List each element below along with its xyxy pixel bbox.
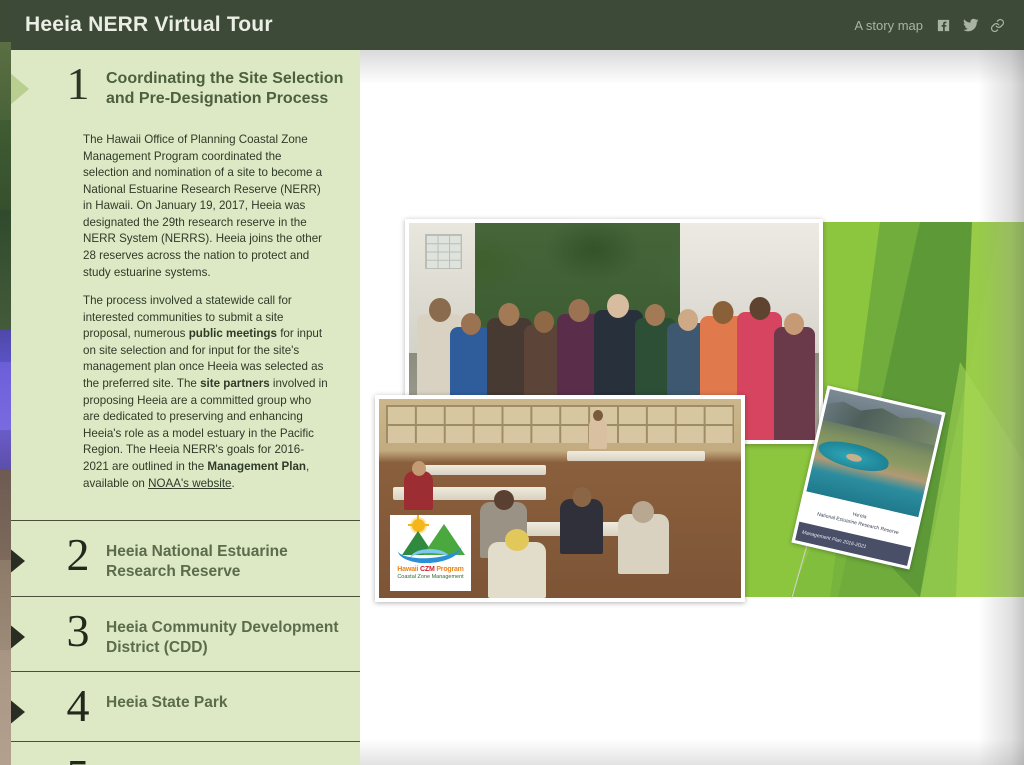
czm-logo-line1: Hawaii CZM Program bbox=[397, 566, 463, 573]
attendee-figure bbox=[488, 542, 546, 598]
p2-bold-3: Management Plan bbox=[207, 460, 306, 473]
section-header: 3 Heeia Community Development District (… bbox=[63, 611, 346, 658]
section-number: 4 bbox=[63, 686, 93, 726]
section-body-copy: The Hawaii Office of Planning Coastal Zo… bbox=[63, 110, 346, 506]
section-arrow-icon bbox=[11, 698, 25, 726]
head bbox=[632, 501, 654, 523]
body-paragraph-2: The process involved a statewide call fo… bbox=[83, 293, 328, 492]
section-number: 2 bbox=[63, 535, 93, 575]
twitter-icon[interactable] bbox=[962, 17, 979, 34]
attendee-figure bbox=[618, 514, 669, 574]
sidebar-section-2[interactable]: 2 Heeia National Estuarine Research Rese… bbox=[11, 520, 360, 596]
app-header: Heeia NERR Virtual Tour A story map bbox=[11, 0, 1024, 50]
czm-accent: CZM bbox=[420, 566, 435, 573]
head bbox=[461, 313, 481, 335]
hawaii-czm-program-logo: Hawaii CZM Program Coastal Zone Manageme… bbox=[390, 515, 471, 591]
section-title: Heeia State Park bbox=[106, 686, 228, 713]
czm-logo-artwork bbox=[396, 519, 466, 565]
p2-part-5: . bbox=[232, 477, 235, 490]
slide-stage: Hawaii CZM Program Coastal Zone Manageme… bbox=[360, 50, 1024, 765]
section-number: 5 bbox=[63, 756, 93, 765]
head bbox=[412, 461, 426, 476]
section-sidebar: 1 Coordinating the Site Selection and Pr… bbox=[11, 50, 360, 765]
link-icon[interactable] bbox=[989, 17, 1006, 34]
active-section-arrow-icon bbox=[11, 72, 29, 106]
p2-bold-2: site partners bbox=[200, 377, 270, 390]
head bbox=[712, 301, 733, 324]
head bbox=[429, 298, 451, 322]
story-map-app: Hawaii CZM Program Coastal Zone Manageme… bbox=[0, 0, 1024, 765]
sidebar-section-3[interactable]: 3 Heeia Community Development District (… bbox=[11, 596, 360, 672]
wave-icon bbox=[397, 546, 462, 565]
section-header: 1 Coordinating the Site Selection and Pr… bbox=[63, 64, 346, 110]
attendee-figure bbox=[560, 499, 603, 555]
noaa-website-link[interactable]: NOAA's website bbox=[148, 477, 231, 490]
meeting-scene: Hawaii CZM Program Coastal Zone Manageme… bbox=[379, 399, 741, 598]
czm-logo-line2: Coastal Zone Management bbox=[397, 574, 463, 580]
sidebar-section-1[interactable]: 1 Coordinating the Site Selection and Pr… bbox=[11, 50, 360, 520]
presenter-figure bbox=[589, 417, 607, 449]
head bbox=[645, 304, 665, 326]
head bbox=[784, 313, 804, 335]
head bbox=[499, 303, 520, 326]
meeting-table bbox=[415, 465, 545, 475]
attendee-figure bbox=[404, 471, 433, 511]
public-meeting-photo[interactable]: Hawaii CZM Program Coastal Zone Manageme… bbox=[375, 395, 745, 602]
section-header: 2 Heeia National Estuarine Research Rese… bbox=[63, 535, 346, 582]
section-number: 1 bbox=[63, 64, 93, 104]
header-actions: A story map bbox=[854, 17, 1006, 34]
sidebar-section-4[interactable]: 4 Heeia State Park bbox=[11, 671, 360, 740]
czm-prefix: Hawaii bbox=[397, 566, 420, 573]
page-title: Heeia NERR Virtual Tour bbox=[25, 13, 273, 37]
window-icon bbox=[425, 234, 462, 269]
body-paragraph-1: The Hawaii Office of Planning Coastal Zo… bbox=[83, 132, 328, 281]
head bbox=[593, 410, 603, 421]
section-title: Heeia Community Development District (CD… bbox=[106, 611, 346, 658]
head bbox=[494, 490, 514, 510]
p2-bold-1: public meetings bbox=[189, 327, 277, 340]
room-windows bbox=[386, 405, 734, 443]
section-number: 3 bbox=[63, 611, 93, 651]
head bbox=[534, 311, 554, 333]
p2-part-3: involved in proposing Heeia are a commit… bbox=[83, 377, 328, 473]
meeting-table bbox=[567, 451, 705, 461]
section-header: 4 Heeia State Park bbox=[63, 686, 346, 726]
head bbox=[572, 487, 591, 507]
person-figure bbox=[774, 327, 815, 440]
sidebar-section-5[interactable]: 5 Heeia Fishpond bbox=[11, 741, 360, 765]
section-title: Heeia Fishpond bbox=[106, 756, 221, 765]
head bbox=[749, 297, 770, 320]
head bbox=[678, 309, 698, 331]
story-map-label: A story map bbox=[854, 18, 923, 33]
czm-suffix: Program bbox=[435, 566, 464, 573]
facebook-icon[interactable] bbox=[935, 17, 952, 34]
head bbox=[505, 529, 529, 551]
head bbox=[607, 294, 629, 318]
head bbox=[569, 299, 590, 322]
background-photo-sliver bbox=[0, 0, 11, 765]
section-header: 5 Heeia Fishpond bbox=[63, 756, 346, 765]
section-arrow-icon bbox=[11, 623, 25, 651]
section-title: Heeia National Estuarine Research Reserv… bbox=[106, 535, 346, 582]
section-title: Coordinating the Site Selection and Pre-… bbox=[106, 64, 346, 110]
section-arrow-icon bbox=[11, 547, 25, 575]
